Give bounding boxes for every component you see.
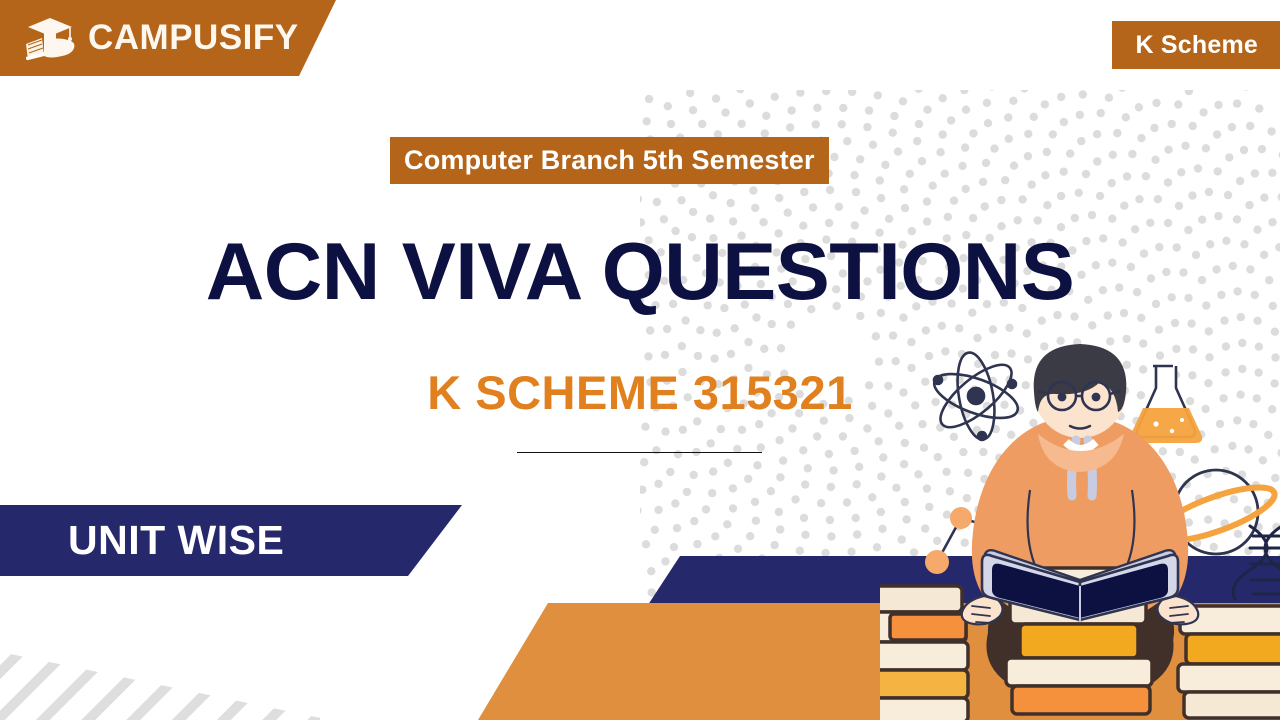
unit-wise-label: UNIT WISE [68, 517, 284, 564]
page-subtitle: K SCHEME 315321 [0, 369, 1280, 416]
divider [517, 452, 762, 453]
book-stack-left [880, 586, 968, 720]
graduation-cap-book-icon [22, 14, 78, 62]
diagonal-stripes-decor [0, 630, 320, 720]
scheme-badge-label: K Scheme [1136, 31, 1259, 60]
page-title: ACN VIVA QUESTIONS [0, 232, 1280, 313]
semester-banner: Computer Branch 5th Semester [390, 137, 829, 184]
diagonal-stripes-fill [0, 630, 320, 720]
brand-logo-banner[interactable]: CAMPUSIFY [0, 0, 336, 76]
brand-name: CAMPUSIFY [88, 18, 299, 58]
semester-banner-label: Computer Branch 5th Semester [404, 145, 815, 176]
unit-wise-banner[interactable]: UNIT WISE [0, 505, 462, 576]
poster-canvas: CAMPUSIFY K Scheme Computer Branch 5th S… [0, 0, 1280, 720]
scheme-badge[interactable]: K Scheme [1112, 21, 1280, 69]
